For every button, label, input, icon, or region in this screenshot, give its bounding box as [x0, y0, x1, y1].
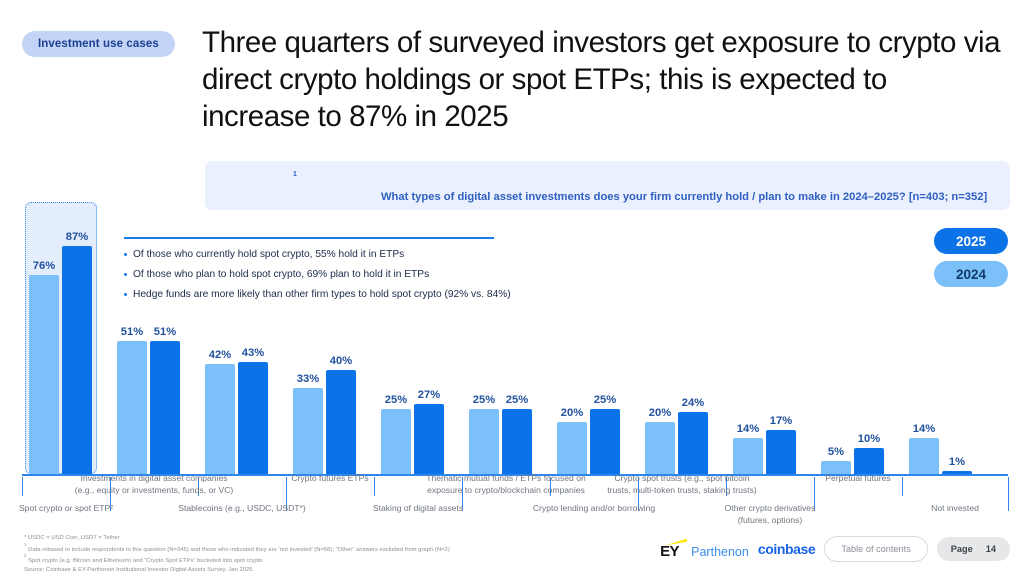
axis-category-label: Crypto lending and/or borrowing: [499, 503, 689, 515]
coinbase-logo: coinbase: [758, 542, 816, 557]
axis-category-label: Not invested: [860, 503, 1024, 515]
bar-value-label: 10%: [854, 433, 884, 445]
bar-2025[interactable]: [414, 404, 444, 475]
axis-category-label: Crypto spot trusts (e.g., spot bitcoin t…: [587, 473, 777, 496]
bar-2025[interactable]: [326, 370, 356, 475]
axis-tick: [22, 477, 23, 496]
bar-value-label: 17%: [766, 415, 796, 427]
bar-value-label: 25%: [502, 394, 532, 406]
bar-value-label: 14%: [909, 423, 939, 435]
page-title: Three quarters of surveyed investors get…: [202, 24, 1002, 135]
footnote-line: 2 Spot crypto (e.g. Bitcoin and Ethereum…: [24, 554, 450, 566]
bar-2024[interactable]: [29, 275, 59, 474]
bar-2025[interactable]: [678, 412, 708, 475]
page-number: 14: [986, 544, 996, 554]
axis-category-label: Perpetual futures: [763, 473, 953, 485]
ey-logo-icon: EY: [660, 540, 687, 559]
bar-2025[interactable]: [854, 448, 884, 474]
bar-value-label: 40%: [326, 355, 356, 367]
axis-category-label: Crypto futures ETPs: [235, 473, 425, 485]
bar-value-label: 51%: [150, 326, 180, 338]
bar-chart: 76%87%51%51%42%43%33%40%25%27%25%25%20%2…: [0, 196, 1024, 476]
bar-value-label: 14%: [733, 423, 763, 435]
bar-2024[interactable]: [557, 422, 587, 474]
slide-footer: EY Parthenon coinbase Table of contents …: [660, 536, 1010, 562]
bar-value-label: 24%: [678, 397, 708, 409]
ey-letters: EY: [660, 544, 679, 559]
bar-value-label: 25%: [469, 394, 499, 406]
section-tag: Investment use cases: [22, 31, 175, 57]
bar-2025[interactable]: [62, 246, 92, 474]
bar-2024[interactable]: [293, 388, 323, 474]
bar-value-label: 76%: [29, 260, 59, 272]
bar-value-label: 42%: [205, 349, 235, 361]
bar-value-label: 87%: [62, 231, 92, 243]
bar-value-label: 25%: [381, 394, 411, 406]
bar-value-label: 1%: [942, 456, 972, 468]
page-indicator: Page 14: [937, 537, 1010, 561]
bar-2025[interactable]: [590, 409, 620, 475]
footnote-line: 1 Data rebased to include respondents to…: [24, 543, 450, 555]
bar-value-label: 25%: [590, 394, 620, 406]
table-of-contents-button[interactable]: Table of contents: [824, 536, 927, 562]
bar-2025[interactable]: [502, 409, 532, 475]
bar-value-label: 33%: [293, 373, 323, 385]
bar-value-label: 43%: [238, 347, 268, 359]
footnote-line: * USDC = USD Coin, USDT = Tether: [24, 534, 450, 543]
question-banner-text: What types of digital asset investments …: [293, 176, 297, 189]
bar-2024[interactable]: [645, 422, 675, 474]
axis-category-label: Stablecoins (e.g., USDC, USDT*): [147, 503, 337, 515]
parthenon-wordmark: Parthenon: [691, 545, 749, 559]
footnotes: * USDC = USD Coin, USDT = Tether 1 Data …: [24, 534, 450, 574]
bar-value-label: 51%: [117, 326, 147, 338]
bar-2025[interactable]: [150, 341, 180, 475]
page-label: Page: [951, 544, 973, 554]
bar-2024[interactable]: [909, 438, 939, 475]
bar-value-label: 5%: [821, 446, 851, 458]
bar-value-label: 27%: [414, 389, 444, 401]
axis-category-label: Spot crypto or spot ETP²: [0, 503, 161, 515]
bar-2024[interactable]: [381, 409, 411, 475]
bar-2024[interactable]: [733, 438, 763, 475]
axis-category-label: Staking of digital assets: [323, 503, 513, 515]
bar-2025[interactable]: [238, 362, 268, 475]
bar-2024[interactable]: [117, 341, 147, 475]
question-superscript: 1: [293, 171, 297, 178]
bar-2024[interactable]: [469, 409, 499, 475]
axis-category-label: Thematic mutual funds / ETPs focused on …: [411, 473, 601, 496]
bar-value-label: 20%: [557, 407, 587, 419]
bar-value-label: 20%: [645, 407, 675, 419]
axis-category-label: Other crypto derivatives (futures, optio…: [675, 503, 865, 526]
source-line: Source: Coinbase & EY-Parthenon Institut…: [24, 566, 450, 575]
axis-category-label: Investments in digital asset companies (…: [59, 473, 249, 496]
bar-2025[interactable]: [766, 430, 796, 475]
slide-root: Investment use cases Three quarters of s…: [0, 0, 1024, 577]
ey-parthenon-logo: EY Parthenon: [660, 540, 749, 559]
bar-2024[interactable]: [205, 364, 235, 474]
